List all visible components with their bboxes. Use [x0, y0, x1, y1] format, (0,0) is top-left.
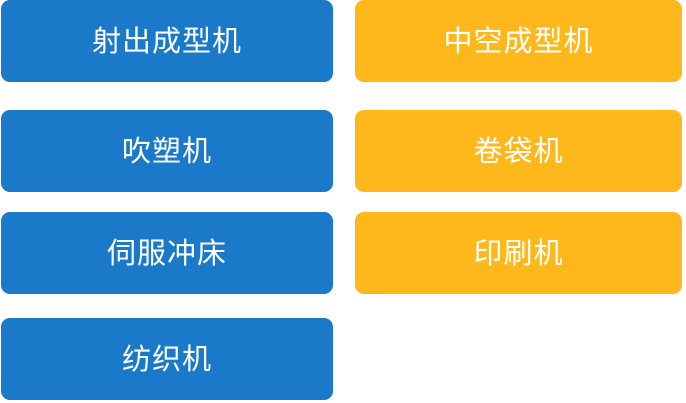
button-hollow-molding-machine[interactable]: 中空成型机: [355, 0, 682, 82]
button-blow-molding-machine[interactable]: 吹塑机: [1, 110, 333, 192]
button-label: 纺织机: [122, 345, 212, 374]
button-label: 射出成型机: [92, 27, 242, 56]
button-servo-punch-press[interactable]: 伺服冲床: [1, 212, 333, 294]
button-injection-molding-machine[interactable]: 射出成型机: [1, 0, 333, 82]
button-label: 印刷机: [473, 239, 563, 268]
button-grid: 射出成型机 吹塑机 伺服冲床 纺织机 中空成型机 卷袋机 印刷机: [0, 0, 686, 403]
button-label: 吹塑机: [122, 137, 212, 166]
button-label: 卷袋机: [473, 137, 563, 166]
button-bag-rolling-machine[interactable]: 卷袋机: [355, 110, 682, 192]
left-column: 射出成型机 吹塑机 伺服冲床 纺织机: [1, 0, 333, 403]
button-printing-machine[interactable]: 印刷机: [355, 212, 682, 294]
button-label: 伺服冲床: [107, 239, 227, 268]
button-label: 中空成型机: [443, 27, 593, 56]
button-textile-machine[interactable]: 纺织机: [1, 318, 333, 400]
right-column: 中空成型机 卷袋机 印刷机: [355, 0, 682, 403]
